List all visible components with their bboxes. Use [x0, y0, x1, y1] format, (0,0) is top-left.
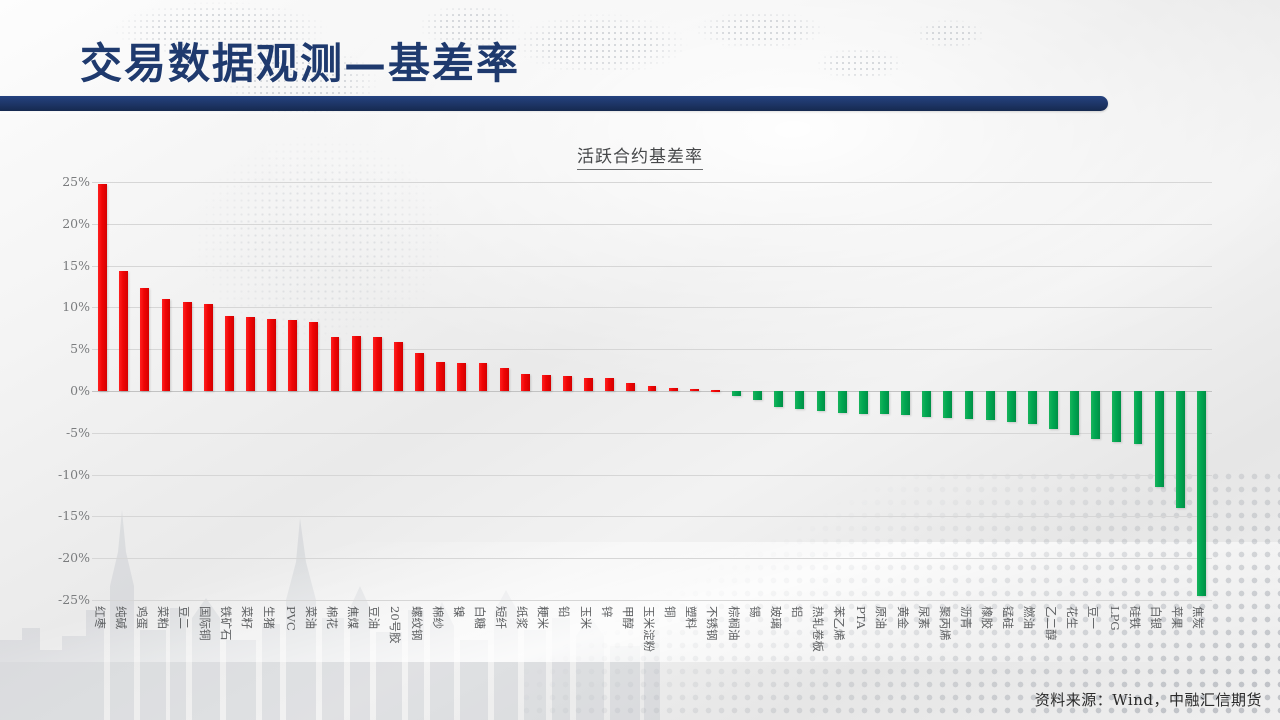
- chart-bar: [943, 391, 952, 418]
- x-axis-tick-label: 豆一: [1085, 606, 1101, 629]
- chart-bar: [1176, 391, 1185, 508]
- chart-bar: [753, 391, 762, 400]
- chart-bar: [309, 322, 318, 391]
- chart-bar: [394, 342, 403, 391]
- chart-bar: [605, 378, 614, 391]
- x-axis-tick-label: 豆二: [176, 606, 192, 629]
- chart-bar: [183, 302, 192, 391]
- x-axis-tick-label: 棉花: [324, 606, 340, 629]
- x-axis-tick-label: 橡胶: [979, 606, 995, 629]
- chart-bar: [500, 368, 509, 391]
- x-axis-tick-label: 螺纹钢: [409, 606, 425, 641]
- x-axis-tick-label: 原油: [873, 606, 889, 629]
- chart-bar: [204, 304, 213, 391]
- x-axis-tick-label: 豆油: [366, 606, 382, 629]
- x-axis-tick-label: 黄金: [895, 606, 911, 629]
- chart-bar: [162, 299, 171, 391]
- chart-plot-area: 25%20%15%10%5%0%-5%-10%-15%-20%-25%红枣纯碱鸡…: [92, 182, 1212, 600]
- y-axis-tick-label: 5%: [42, 341, 90, 356]
- gridline: [92, 516, 1212, 517]
- x-axis-tick-label: PVC: [284, 606, 298, 631]
- x-axis-tick-label: 20号胶: [387, 606, 403, 644]
- chart-bar: [98, 184, 107, 391]
- chart-bar: [901, 391, 910, 415]
- gridline: [92, 307, 1212, 308]
- chart-bar: [1134, 391, 1143, 444]
- x-axis-tick-label: 玉米: [578, 606, 594, 629]
- x-axis-tick-label: PTA: [854, 606, 868, 629]
- chart-title-text: 活跃合约基差率: [577, 147, 703, 170]
- chart-bar: [436, 362, 445, 391]
- x-axis-tick-label: 热轧卷板: [810, 606, 826, 652]
- chart-bar: [331, 337, 340, 391]
- x-axis-tick-label: 粳米: [535, 606, 551, 629]
- chart-bar: [521, 374, 530, 391]
- gridline: [92, 391, 1212, 392]
- chart-bar: [986, 391, 995, 420]
- x-axis-tick-label: 甲醇: [620, 606, 636, 629]
- x-axis-tick-label: 铁矿石: [218, 606, 234, 641]
- x-axis-tick-label: 焦炭: [1190, 606, 1206, 629]
- gridline: [92, 224, 1212, 225]
- gridline: [92, 558, 1212, 559]
- chart-bar: [859, 391, 868, 414]
- x-axis-tick-label: 红枣: [92, 606, 108, 629]
- x-axis-tick-label: 菜粕: [155, 606, 171, 629]
- y-axis-tick-label: 0%: [42, 383, 90, 398]
- x-axis-tick-label: 尿素: [916, 606, 932, 629]
- chart-bar: [690, 389, 699, 391]
- y-axis-tick-label: -10%: [42, 467, 90, 482]
- chart-bar: [246, 317, 255, 391]
- chart-bar: [119, 271, 128, 391]
- gridline: [92, 433, 1212, 434]
- chart-bar: [1007, 391, 1016, 422]
- x-axis-tick-label: 不锈钢: [704, 606, 720, 641]
- chart-bar: [965, 391, 974, 419]
- chart-bar: [795, 391, 804, 409]
- y-axis-tick-label: 10%: [42, 299, 90, 314]
- x-axis-tick-label: 沥青: [958, 606, 974, 629]
- chart-bar: [1091, 391, 1100, 439]
- x-axis-tick-label: 乙二醇: [1043, 606, 1059, 641]
- x-axis-tick-label: 苯乙烯: [831, 606, 847, 641]
- x-axis-tick-label: 国际铜: [197, 606, 213, 641]
- y-axis-tick-label: -20%: [42, 550, 90, 565]
- x-axis-tick-label: 锌: [599, 606, 615, 618]
- x-axis-tick-label: LPG: [1108, 606, 1122, 631]
- chart-bar: [1112, 391, 1121, 442]
- x-axis-tick-label: 白糖: [472, 606, 488, 629]
- chart-bar: [584, 378, 593, 391]
- chart-bar: [817, 391, 826, 411]
- chart-title: 活跃合约基差率: [0, 142, 1280, 167]
- x-axis-tick-label: 硅铁: [1127, 606, 1143, 629]
- y-axis-tick-label: -25%: [42, 592, 90, 607]
- y-axis-tick-label: 25%: [42, 174, 90, 189]
- x-axis-tick-label: 玻璃: [768, 606, 784, 629]
- chart-bar: [711, 390, 720, 392]
- gridline: [92, 182, 1212, 183]
- x-axis-tick-label: 菜籽: [239, 606, 255, 629]
- chart-bar: [1155, 391, 1164, 487]
- chart-bar: [288, 320, 297, 391]
- y-axis-tick-label: 15%: [42, 258, 90, 273]
- gridline: [92, 266, 1212, 267]
- chart-bar: [669, 388, 678, 391]
- gridline: [92, 600, 1212, 601]
- chart-bar: [1197, 391, 1206, 596]
- x-axis-tick-label: 锡: [747, 606, 763, 618]
- x-axis-tick-label: 塑料: [683, 606, 699, 629]
- basis-rate-bar-chart: 活跃合约基差率 25%20%15%10%5%0%-5%-10%-15%-20%-…: [0, 130, 1280, 690]
- slide-canvas: 交易数据观测—基差率: [0, 0, 1280, 720]
- chart-bar: [542, 375, 551, 391]
- chart-bar: [880, 391, 889, 414]
- chart-bar: [352, 336, 361, 391]
- x-axis-tick-label: 玉米淀粉: [641, 606, 657, 652]
- y-axis-tick-label: -15%: [42, 508, 90, 523]
- x-axis-tick-label: 生猪: [261, 606, 277, 629]
- x-axis-tick-label: 铝: [789, 606, 805, 618]
- chart-bar: [563, 376, 572, 391]
- x-axis-tick-label: 铅: [556, 606, 572, 618]
- x-axis-tick-label: 聚丙烯: [937, 606, 953, 641]
- chart-bar: [774, 391, 783, 407]
- x-axis-tick-label: 锰硅: [1000, 606, 1016, 629]
- chart-bar: [225, 316, 234, 391]
- x-axis-tick-label: 苹果: [1169, 606, 1185, 629]
- gridline: [92, 349, 1212, 350]
- page-title: 交易数据观测—基差率: [80, 30, 520, 91]
- x-axis-tick-label: 纯碱: [113, 606, 129, 629]
- chart-bar: [648, 386, 657, 391]
- x-axis-tick-label: 菜油: [303, 606, 319, 629]
- gridline: [92, 475, 1212, 476]
- x-axis-tick-label: 燃油: [1021, 606, 1037, 629]
- chart-bar: [626, 383, 635, 391]
- chart-bar: [922, 391, 931, 417]
- x-axis-tick-label: 棉纱: [430, 606, 446, 629]
- chart-bar: [732, 391, 741, 396]
- chart-bar: [415, 353, 424, 391]
- y-axis-tick-label: 20%: [42, 216, 90, 231]
- chart-bar: [479, 363, 488, 391]
- x-axis-tick-label: 纸浆: [514, 606, 530, 629]
- chart-bar: [140, 288, 149, 391]
- chart-bar: [1028, 391, 1037, 424]
- x-axis-tick-label: 短纤: [493, 606, 509, 629]
- x-axis-tick-label: 棕榈油: [726, 606, 742, 641]
- chart-bar: [1070, 391, 1079, 435]
- chart-bar: [373, 337, 382, 391]
- y-axis-tick-label: -5%: [42, 425, 90, 440]
- chart-bar: [457, 363, 466, 391]
- x-axis-tick-label: 白银: [1148, 606, 1164, 629]
- x-axis-tick-label: 镍: [451, 606, 467, 618]
- x-axis-tick-label: 鸡蛋: [134, 606, 150, 629]
- x-axis-tick-label: 铜: [662, 606, 678, 618]
- source-note: 资料来源：Wind，中融汇信期货: [1035, 689, 1262, 710]
- chart-bar: [838, 391, 847, 413]
- x-axis-tick-label: 花生: [1064, 606, 1080, 629]
- chart-bar: [267, 319, 276, 391]
- header-accent-band: [0, 96, 1108, 111]
- x-axis-tick-label: 焦煤: [345, 606, 361, 629]
- chart-bar: [1049, 391, 1058, 429]
